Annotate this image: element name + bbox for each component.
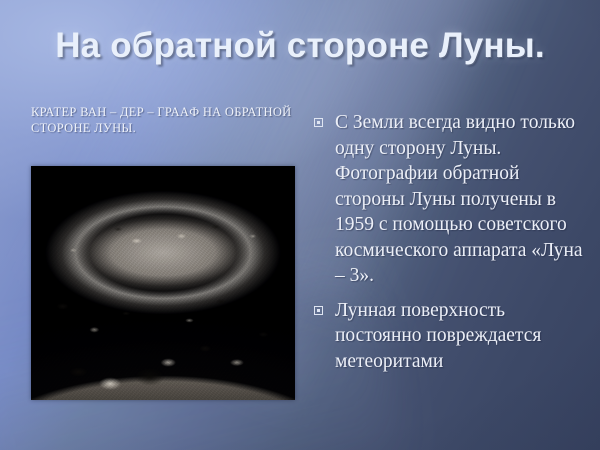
moon-crater-photo	[31, 166, 295, 400]
list-item: С Земли всегда видно только одну сторону…	[314, 110, 590, 289]
bullet-list: С Земли всегда видно только одну сторону…	[314, 110, 590, 383]
slide-title: На обратной стороне Луны.	[0, 24, 600, 68]
list-item: Лунная поверхность постоянно повреждаетс…	[314, 298, 590, 375]
moon-crater-photo-surface	[31, 166, 295, 400]
presentation-slide: На обратной стороне Луны. Кратер Ван – Д…	[0, 0, 600, 450]
square-bullet-icon	[314, 306, 323, 315]
square-bullet-icon	[314, 118, 323, 127]
photo-caption: Кратер Ван – Дер – Граaф на обратной сто…	[31, 104, 301, 136]
bullet-text: С Земли всегда видно только одну сторону…	[335, 110, 590, 289]
bullet-text: Лунная поверхность постоянно повреждаетс…	[335, 298, 590, 375]
